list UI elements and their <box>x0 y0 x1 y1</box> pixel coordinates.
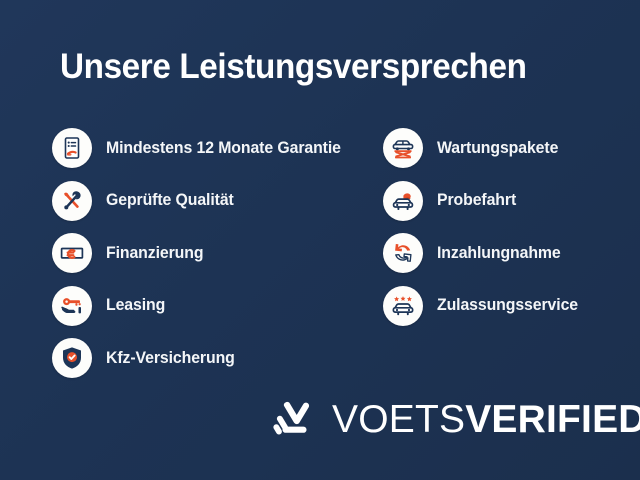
benefit-item-versicherung: Kfz-Versicherung <box>52 332 382 385</box>
voets-v-mark-icon <box>272 396 316 442</box>
benefit-item-leasing: Leasing <box>52 280 382 333</box>
exchange-arrows-icon <box>383 233 423 273</box>
promo-banner: Unsere Leistungsversprechen Min <box>0 0 640 480</box>
benefit-label: Mindestens 12 Monate Garantie <box>106 139 341 158</box>
benefit-item-probefahrt: Probefahrt <box>383 175 638 228</box>
car-test-drive-icon <box>383 181 423 221</box>
benefit-label: Leasing <box>106 296 165 315</box>
car-stars-icon <box>383 286 423 326</box>
car-on-lift-icon <box>383 128 423 168</box>
benefit-item-qualitaet: Geprüfte Qualität <box>52 175 382 228</box>
benefit-label: Finanzierung <box>106 244 203 263</box>
shield-check-icon <box>52 338 92 378</box>
benefits-column-left: Mindestens 12 Monate Garantie <box>52 122 382 385</box>
banknote-euro-icon <box>52 233 92 273</box>
benefit-label: Wartungspakete <box>437 139 558 158</box>
benefit-item-zulassungsservice: Zulassungsservice <box>383 280 638 333</box>
benefit-label: Zulassungsservice <box>437 296 578 315</box>
benefit-label: Inzahlungnahme <box>437 244 561 263</box>
page-title: Unsere Leistungsversprechen <box>60 48 527 87</box>
benefit-item-garantie: Mindestens 12 Monate Garantie <box>52 122 382 175</box>
hand-holding-key-icon <box>52 286 92 326</box>
benefit-label: Probefahrt <box>437 191 516 210</box>
benefit-label: Geprüfte Qualität <box>106 191 234 210</box>
logo-word-verified: VERIFIED <box>465 398 640 441</box>
logo-word-voets: VOETS <box>332 398 465 441</box>
benefits-column-right: Wartungspakete Probefahrt <box>383 122 638 332</box>
benefit-item-wartungspakete: Wartungspakete <box>383 122 638 175</box>
voets-verified-logo: VOETSVERIFIED <box>272 396 640 442</box>
wrench-screwdriver-icon <box>52 181 92 221</box>
logo-wordmark: VOETSVERIFIED <box>332 400 640 439</box>
benefit-item-inzahlungnahme: Inzahlungnahme <box>383 227 638 280</box>
certificate-document-icon <box>52 128 92 168</box>
benefit-item-finanzierung: Finanzierung <box>52 227 382 280</box>
benefit-label: Kfz-Versicherung <box>106 349 235 368</box>
